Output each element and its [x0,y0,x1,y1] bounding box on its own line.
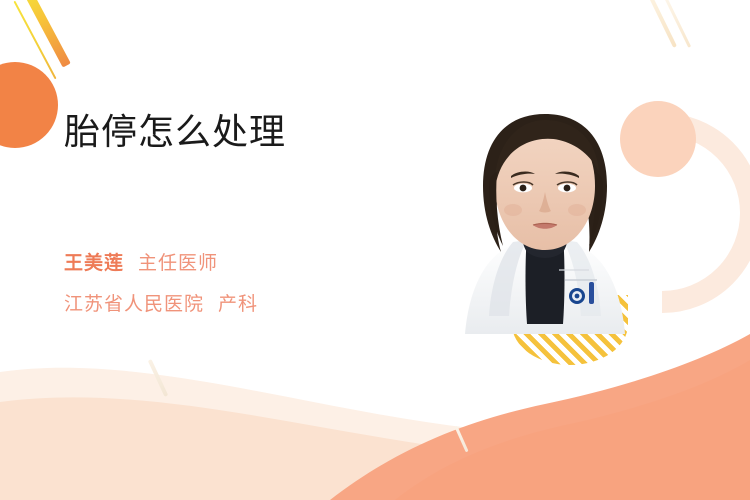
doctor-title: 主任医师 [138,253,218,274]
pupil-left [520,185,527,192]
doctor-name: 王美莲 [64,253,124,274]
doctor-video-cover-card: 胎停怎么处理 王美莲主任医师 江苏省人民医院产科 [0,0,750,500]
doctor-portrait-image [455,110,635,355]
page-title: 胎停怎么处理 [64,110,464,153]
doctor-credit-row: 王美莲主任医师 [64,248,218,275]
cream-diagonal-streak-3 [148,359,169,397]
pupil-right [564,185,571,192]
cream-diagonal-streak-1 [647,0,677,48]
doctor-affiliation-row: 江苏省人民医院产科 [64,289,258,316]
doctor-hospital: 江苏省人民医院 [64,294,204,315]
orange-circle-decoration [0,62,58,148]
bottom-mid-peach-wave [0,397,750,500]
doctor-portrait [455,110,635,355]
cream-diagonal-streak-4 [454,426,468,453]
bottom-light-peach-wave [0,368,750,500]
doctor-department: 产科 [218,294,258,315]
cream-diagonal-streak-2 [664,0,691,48]
cheek-shade-right [568,204,586,216]
cheek-shade-left [504,204,522,216]
coat-pen [589,282,594,304]
bottom-right-coral-wave-overlay [395,360,750,500]
title-block: 胎停怎么处理 [64,110,464,153]
coat-badge-core [575,294,580,299]
